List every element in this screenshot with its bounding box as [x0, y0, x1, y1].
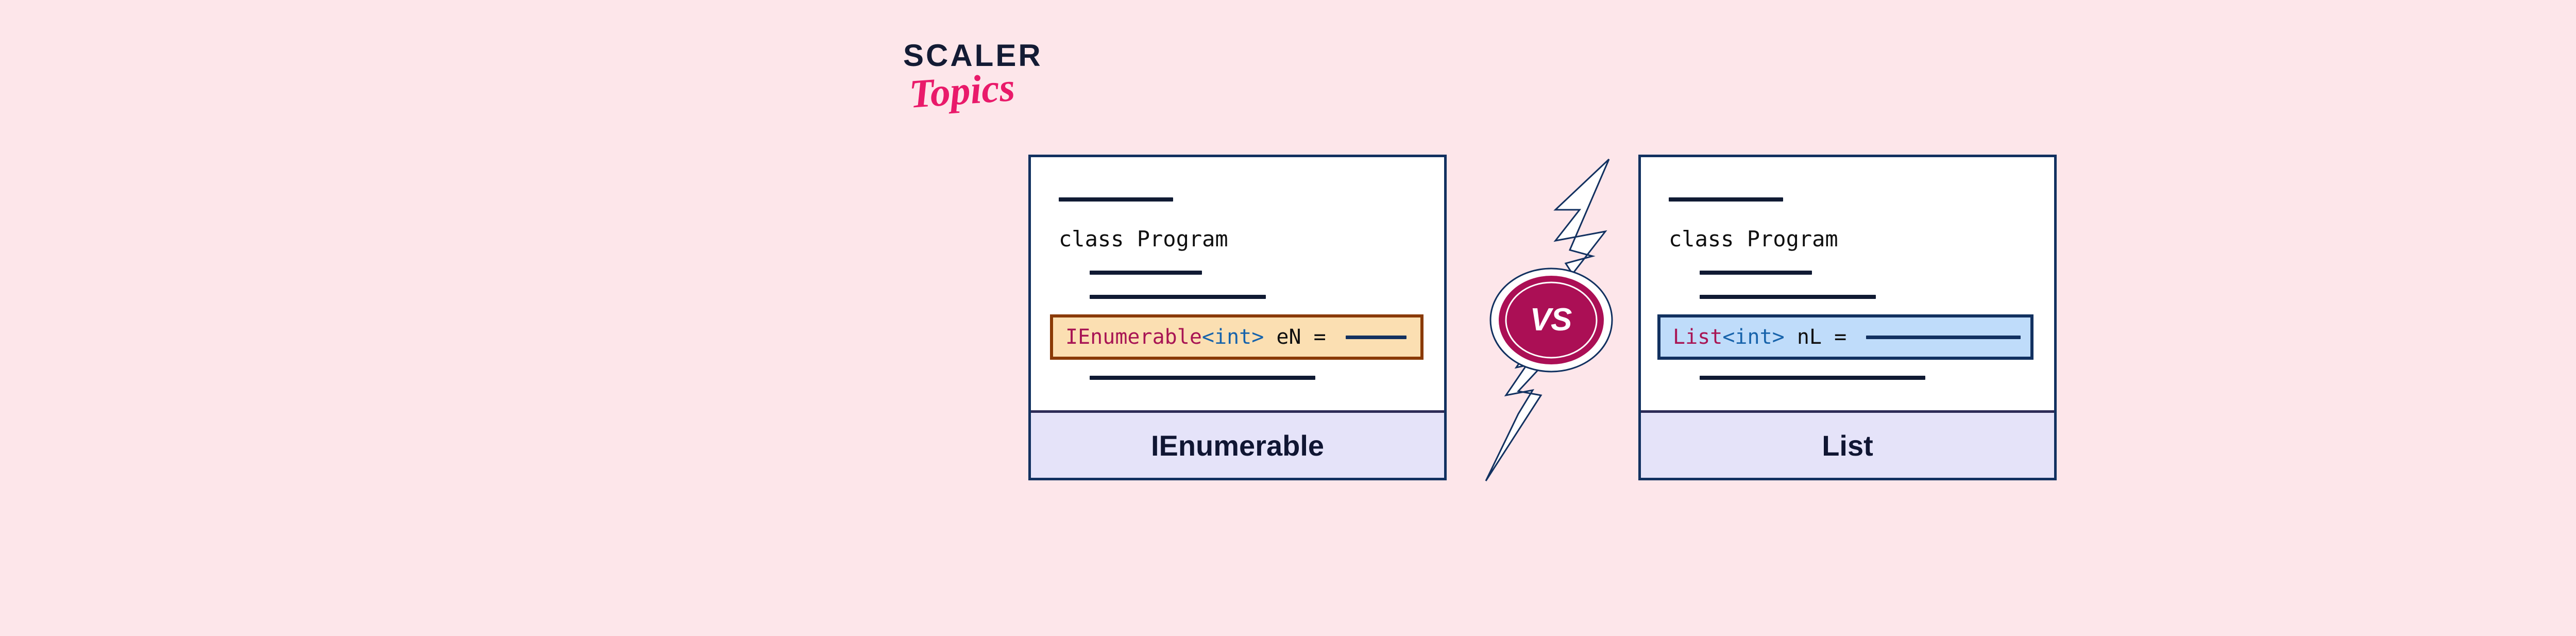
scaler-topics-logo: SCALER Topics — [903, 40, 1037, 123]
class-declaration-text: class Program — [1669, 226, 1838, 252]
redacted-line — [1700, 271, 1812, 275]
redacted-line — [1090, 271, 1202, 275]
lightning-bolt-icon — [1469, 145, 1634, 495]
card-footer-label: List — [1822, 429, 1873, 462]
code-token-type: IEnumerable — [1065, 325, 1202, 349]
code-tokens: IEnumerable<int> eN = — [1065, 325, 1406, 349]
redacted-value-line — [1866, 336, 2021, 339]
code-token-generic: <int> — [1202, 325, 1264, 349]
badge-circle — [1499, 276, 1604, 364]
redacted-line — [1700, 376, 1925, 380]
logo-topics-wordmark: Topics — [908, 65, 1038, 114]
code-token-type: List — [1673, 325, 1722, 349]
code-tokens: List<int> nL = — [1673, 325, 2021, 349]
redacted-line — [1090, 295, 1266, 299]
card-body-ienumerable: class Program IEnumerable<int> eN = — [1031, 157, 1444, 410]
comparison-card-list: class Program List<int> nL = List — [1638, 155, 2057, 480]
redacted-line — [1669, 197, 1783, 202]
highlighted-code-line-ienumerable: IEnumerable<int> eN = — [1050, 314, 1423, 360]
redacted-line — [1090, 376, 1315, 380]
code-token-variable: nL = — [1785, 325, 1859, 349]
redacted-line — [1700, 295, 1876, 299]
card-footer-list: List — [1641, 410, 2054, 478]
class-declaration-text: class Program — [1059, 226, 1228, 252]
highlighted-code-line-list: List<int> nL = — [1657, 314, 2033, 360]
card-body-list: class Program List<int> nL = — [1641, 157, 2054, 410]
code-token-variable: eN = — [1264, 325, 1338, 349]
comparison-card-ienumerable: class Program IEnumerable<int> eN = IEnu… — [1028, 155, 1447, 480]
card-footer-ienumerable: IEnumerable — [1031, 410, 1444, 478]
card-footer-label: IEnumerable — [1151, 429, 1324, 462]
redacted-value-line — [1346, 336, 1406, 339]
versus-badge: VS — [1469, 145, 1634, 495]
code-token-generic: <int> — [1722, 325, 1784, 349]
redacted-line — [1059, 197, 1173, 202]
